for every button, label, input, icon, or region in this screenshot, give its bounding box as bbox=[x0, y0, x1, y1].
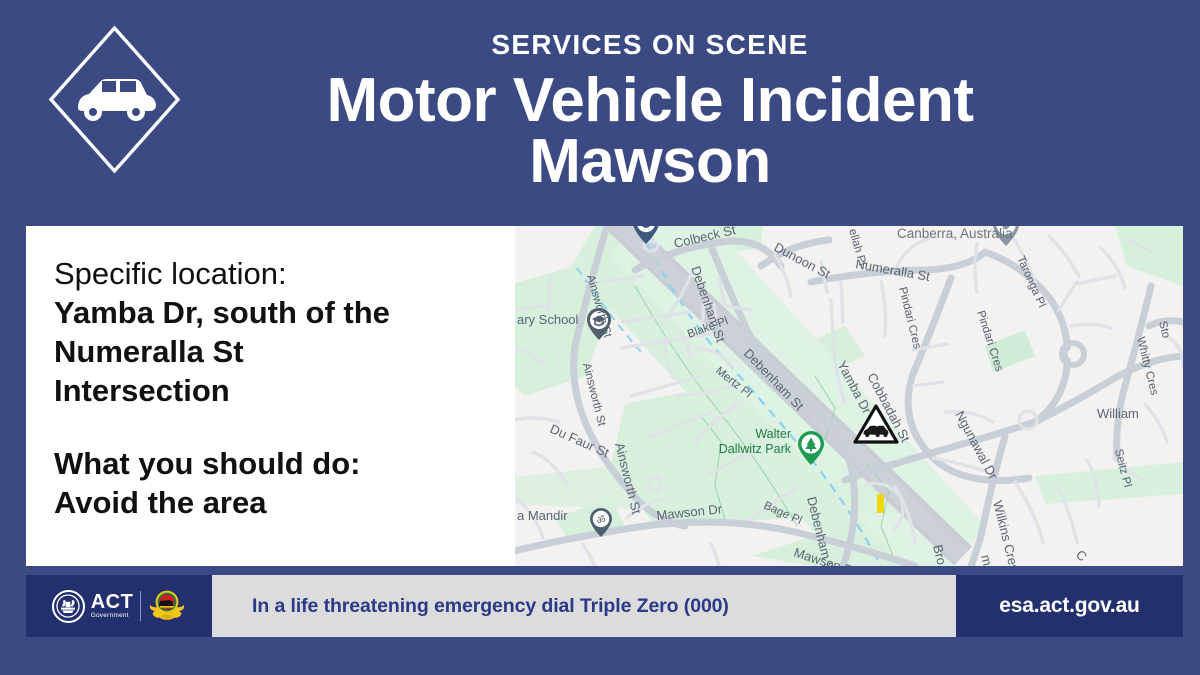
act-wordmark: ACT Government bbox=[91, 592, 134, 619]
location-value-line-2: Numeralla St bbox=[54, 332, 488, 371]
panel-spacer bbox=[54, 410, 488, 444]
map-street-label: William bbox=[1097, 406, 1139, 421]
esa-emergency-services-badge-icon bbox=[148, 589, 186, 623]
svg-text:ॐ: ॐ bbox=[596, 515, 605, 527]
park-label-line-1: Walter bbox=[755, 427, 791, 441]
header-text-block: SERVICES ON SCENE Motor Vehicle Incident… bbox=[215, 30, 1085, 193]
act-coat-of-arms-crest-icon bbox=[52, 590, 85, 623]
advice-label: What you should do: bbox=[54, 444, 488, 483]
location-value-line-3: Intersection bbox=[54, 371, 488, 410]
page-title-line-1: Motor Vehicle Incident bbox=[215, 70, 1085, 131]
page-title: Motor Vehicle Incident Mawson bbox=[215, 70, 1085, 193]
park-label-line-2: Dallwitz Park bbox=[719, 442, 792, 456]
act-word: ACT bbox=[91, 592, 134, 612]
advice-value: Avoid the area bbox=[54, 483, 488, 522]
footer-logo-block: ACT Government bbox=[26, 575, 212, 637]
location-label: Specific location: bbox=[54, 254, 488, 293]
act-subtext: Government bbox=[91, 613, 134, 619]
act-government-logo: ACT Government bbox=[52, 590, 134, 623]
incident-map[interactable]: ॐ Ainsworth StColbeck StDebenham StDunoo… bbox=[515, 226, 1183, 566]
map-street-label: Canberra, Australia bbox=[897, 226, 1013, 241]
kicker-text: SERVICES ON SCENE bbox=[215, 30, 1085, 61]
logo-divider bbox=[140, 591, 141, 621]
roadwork-strip-marker bbox=[877, 494, 884, 513]
info-panel: Specific location: Yamba Dr, south of th… bbox=[26, 226, 518, 566]
map-street-label: ary School bbox=[517, 312, 579, 327]
header-banner: SERVICES ON SCENE Motor Vehicle Incident… bbox=[0, 0, 1200, 228]
footer-website-text: esa.act.gov.au bbox=[999, 594, 1139, 618]
location-value-line-1: Yamba Dr, south of the bbox=[54, 293, 488, 332]
map-canvas: ॐ Ainsworth StColbeck StDebenham StDunoo… bbox=[515, 226, 1183, 566]
page-title-line-2: Mawson bbox=[215, 131, 1085, 192]
map-street-label: a Mandir bbox=[517, 508, 568, 523]
emergency-message-text: In a life threatening emergency dial Tri… bbox=[212, 595, 729, 618]
footer-bar: ACT Government In a life threatening eme… bbox=[26, 575, 1183, 637]
emergency-message: In a life threatening emergency dial Tri… bbox=[212, 575, 956, 637]
car-in-diamond-icon bbox=[42, 22, 187, 177]
footer-website-link[interactable]: esa.act.gov.au bbox=[956, 575, 1183, 637]
